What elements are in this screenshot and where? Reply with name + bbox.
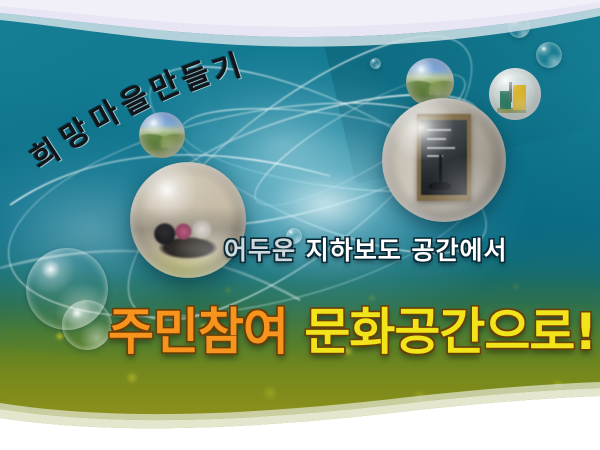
subtitle-leading: 어두운 [224,236,296,265]
wave-top [0,0,600,70]
headline-part2: 문화공간으로! [304,303,596,361]
headline-part1: 주민참여 [108,303,288,361]
wave-bottom [0,378,600,450]
arc-title: 희 망 마 을 만 들 기 [22,52,252,172]
subtitle: 어두운 지하보도 공간에서 [224,231,507,267]
bubble-large-left [26,248,108,330]
subtitle-rest: 지하보도 공간에서 [306,236,508,265]
sphere-poster-artwork [382,98,506,222]
poster-canvas: 희 망 마 을 만 들 기 어두운 지하보도 공간에서 주민참여 문화공간으로! [0,0,600,450]
headline: 주민참여 문화공간으로! [108,292,596,364]
